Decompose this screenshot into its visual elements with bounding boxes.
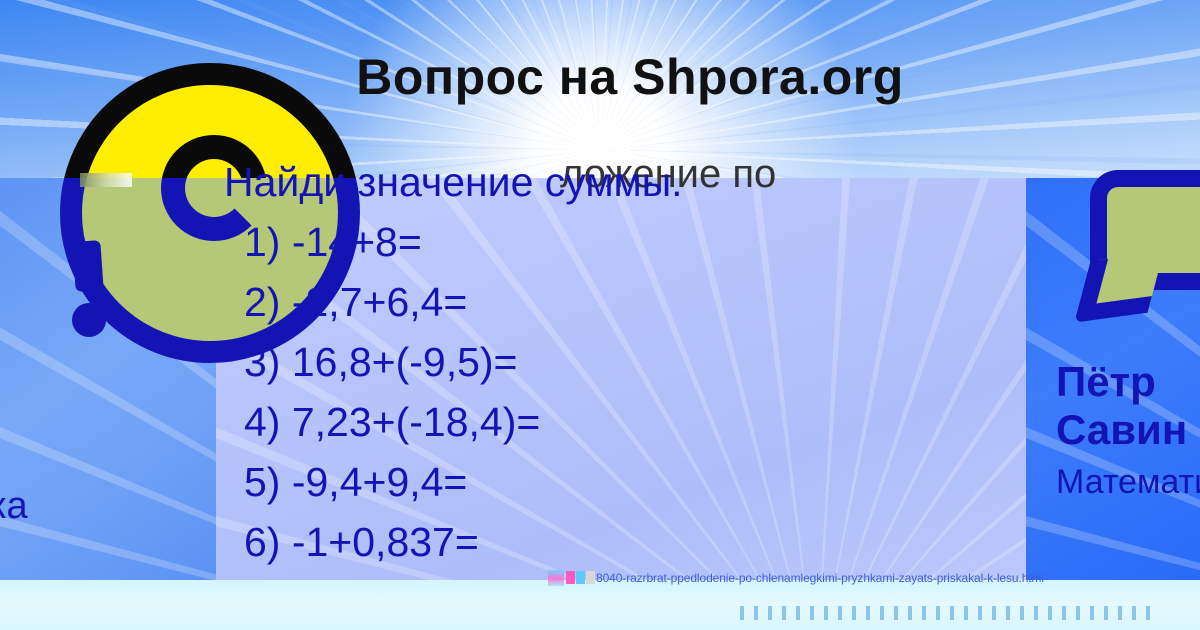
right-author-name-line1: Пётр xyxy=(1056,358,1200,406)
left-author-subject: матика xyxy=(0,476,224,536)
bottom-strip-arc xyxy=(0,580,1200,630)
question-badge-dot xyxy=(72,303,106,337)
right-author-meta: Пётр Савин Математика xyxy=(1056,358,1200,510)
speech-bubble-icon xyxy=(1072,170,1200,330)
slide-canvas: Вопрос на Shpora.org ложение по Найди зн… xyxy=(0,0,1200,630)
render-artifact xyxy=(80,173,132,187)
equation-line-4: 4) 7,23+(-18,4)= xyxy=(216,392,1046,452)
bottom-strip xyxy=(0,580,1200,630)
color-swatch-cyan xyxy=(576,571,585,584)
color-swatch-pink xyxy=(566,571,575,584)
equation-line-3: 3) 16,8+(-9,5)= xyxy=(216,332,1046,392)
equation-line-2: 2) -2,7+6,4= xyxy=(216,272,1046,332)
color-swatch-grey xyxy=(586,571,595,584)
page-title: Вопрос на Shpora.org xyxy=(0,48,1200,106)
watermark-url-text: 8040-razrbrat-ppedlodenie-po-chlenamlegk… xyxy=(596,571,1044,585)
right-author-subject: Математика xyxy=(1056,454,1200,510)
left-author-name-line1: р xyxy=(0,372,224,422)
right-author-name-line2: Савин xyxy=(1056,406,1200,454)
left-author-meta: р вин матика xyxy=(0,372,224,536)
watermark-url-ribbon: 8040-razrbrat-ppedlodenie-po-chlenamlegk… xyxy=(566,569,1044,586)
watermark-glyph-cluster xyxy=(548,570,564,586)
question-badge-stem xyxy=(72,240,103,292)
left-author-name-line2: вин xyxy=(0,422,224,476)
speech-bubble-tail xyxy=(1074,251,1163,322)
question-prompt: Найди значение суммы. xyxy=(216,152,1046,212)
equation-line-5: 5) -9,4+9,4= xyxy=(216,452,1046,512)
equation-line-1: 1) -14+8= xyxy=(216,212,1046,272)
bottom-strip-dots xyxy=(740,606,1160,620)
question-block: Найди значение суммы. 1) -14+8= 2) -2,7+… xyxy=(216,152,1046,572)
equation-line-6: 6) -1+0,837= xyxy=(216,512,1046,572)
